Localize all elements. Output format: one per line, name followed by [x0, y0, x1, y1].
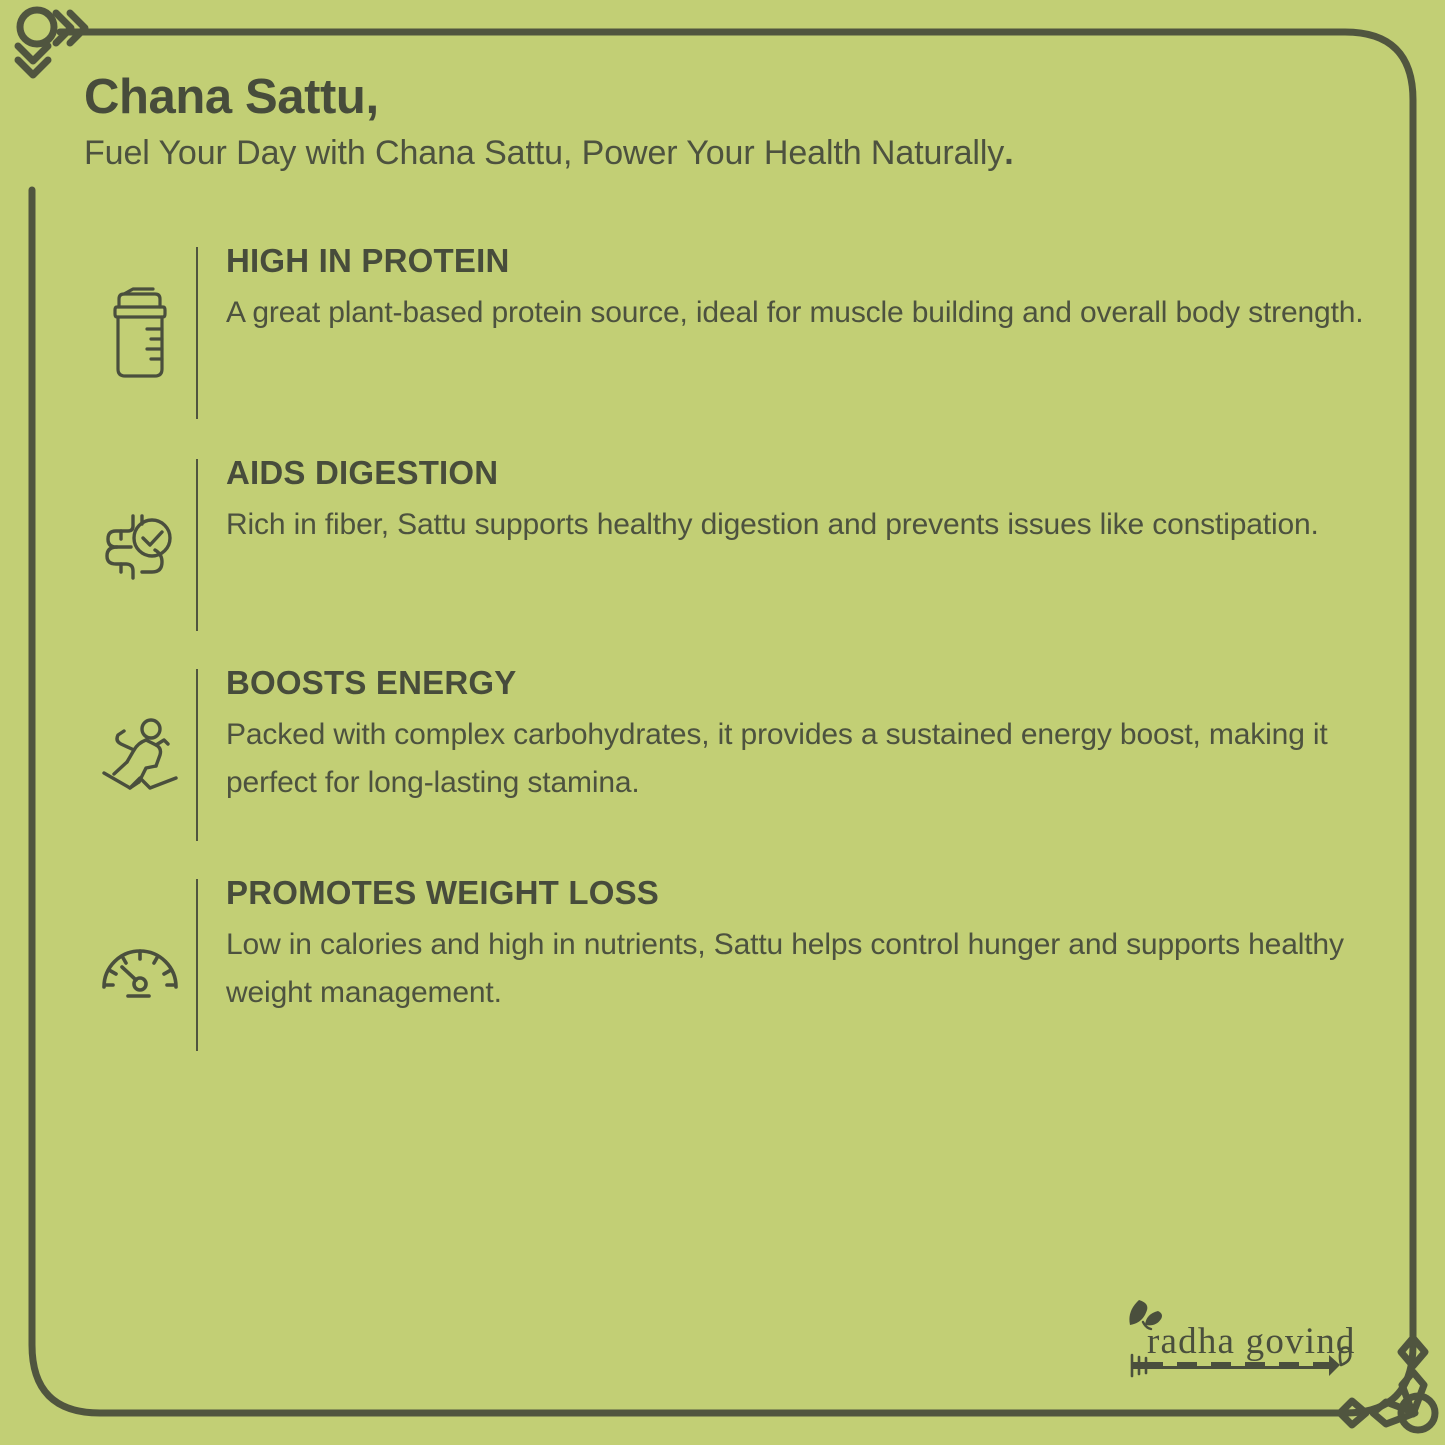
content-area: Chana Sattu, Fuel Your Day with Chana Sa… [84, 72, 1414, 1071]
diamond-icon [1401, 1338, 1425, 1366]
feature-body: PROMOTES WEIGHT LOSS Low in calories and… [198, 865, 1414, 1017]
ornament-circle-icon [20, 10, 54, 44]
feature-description: A great plant-based protein source, idea… [226, 289, 1414, 338]
intestines-check-icon [97, 502, 183, 588]
brand-logo-mark: radha govind [1105, 1295, 1360, 1390]
running-person-icon [94, 712, 186, 798]
diamond-icon [1340, 1401, 1366, 1425]
feature-item-boosts-energy: BOOSTS ENERGY Packed with complex carboh… [84, 655, 1414, 855]
page-subtitle-period: . [1004, 134, 1013, 172]
feature-item-promotes-weight-loss: PROMOTES WEIGHT LOSS Low in calories and… [84, 865, 1414, 1065]
feature-description: Rich in fiber, Sattu supports healthy di… [226, 501, 1414, 550]
feature-body: BOOSTS ENERGY Packed with complex carboh… [198, 655, 1414, 807]
feature-icon-wrap [84, 929, 196, 1001]
feature-description: Packed with complex carbohydrates, it pr… [226, 711, 1414, 808]
shaker-bottle-icon [103, 287, 177, 379]
page-title: Chana Sattu, [84, 72, 1414, 124]
feature-title: BOOSTS ENERGY [226, 665, 1414, 701]
feature-title: PROMOTES WEIGHT LOSS [226, 875, 1414, 911]
feature-list: HIGH IN PROTEIN A great plant-based prot… [84, 233, 1414, 1065]
feature-item-high-in-protein: HIGH IN PROTEIN A great plant-based prot… [84, 233, 1414, 433]
brand-logo: radha govind [1105, 1295, 1360, 1390]
feature-item-aids-digestion: AIDS DIGESTION Rich in fiber, Sattu supp… [84, 445, 1414, 645]
page-subtitle: Fuel Your Day with Chana Sattu, Power Yo… [84, 132, 1414, 176]
feature-description: Low in calories and high in nutrients, S… [226, 921, 1414, 1018]
chevron-down-double-icon [18, 46, 48, 75]
arrow-right-kite-icon [1373, 1402, 1415, 1424]
feature-body: AIDS DIGESTION Rich in fiber, Sattu supp… [198, 445, 1414, 549]
ornament-circle-icon [1401, 1396, 1435, 1430]
corner-ornament-top-left [18, 10, 85, 75]
chevron-right-double-icon [56, 13, 85, 43]
weight-gauge-icon [97, 929, 183, 1001]
feature-title: AIDS DIGESTION [226, 455, 1414, 491]
feature-icon-wrap [84, 712, 196, 798]
arrow-down-kite-icon [1402, 1372, 1424, 1414]
feature-icon-wrap [84, 287, 196, 379]
brand-name: radha govind [1147, 1321, 1356, 1362]
feature-title: HIGH IN PROTEIN [226, 243, 1414, 279]
feature-icon-wrap [84, 502, 196, 588]
feature-body: HIGH IN PROTEIN A great plant-based prot… [198, 233, 1414, 337]
page-subtitle-text: Fuel Your Day with Chana Sattu, Power Yo… [84, 134, 1004, 172]
